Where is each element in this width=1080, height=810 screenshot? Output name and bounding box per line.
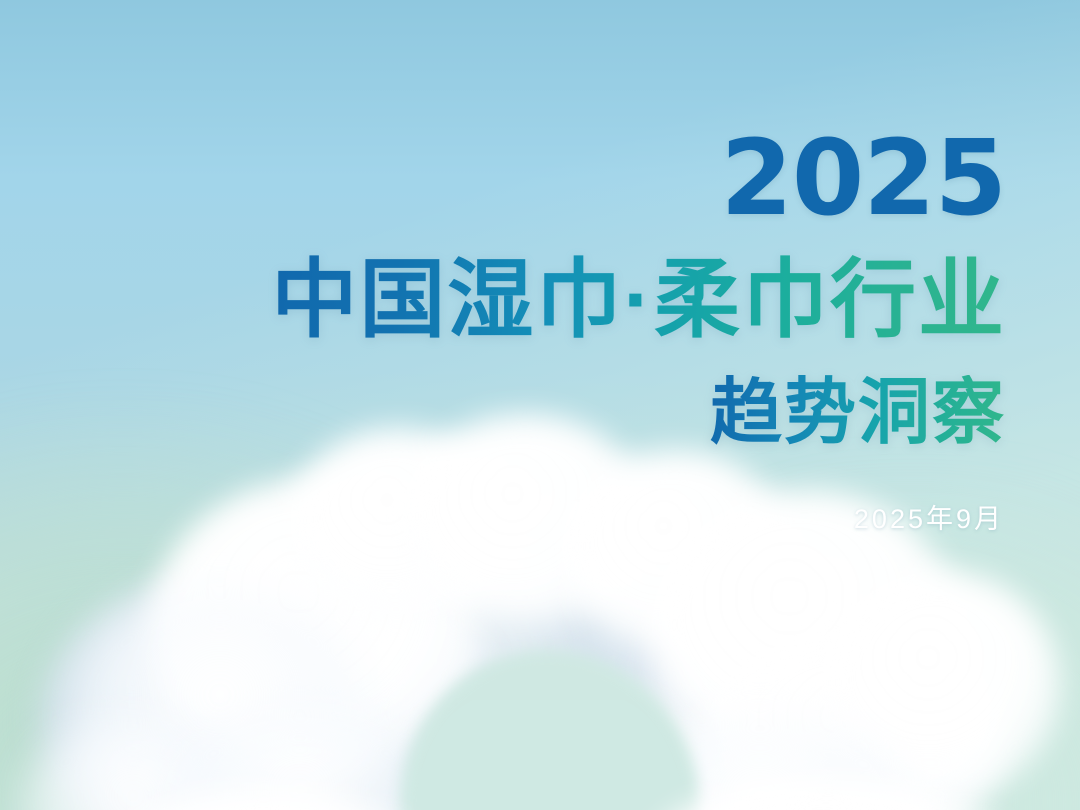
cover-year: 2025 [721, 126, 1006, 230]
cover-slide: 2025 中国湿巾·柔巾行业 趋势洞察 2025年9月 [0, 0, 1080, 810]
cover-headline: 中国湿巾·柔巾行业 [271, 255, 1006, 346]
cover-text-block: 2025 中国湿巾·柔巾行业 趋势洞察 2025年9月 [0, 0, 1080, 810]
cover-subheadline: 趋势洞察 [710, 375, 1006, 453]
cover-date: 2025年9月 [854, 497, 1004, 536]
